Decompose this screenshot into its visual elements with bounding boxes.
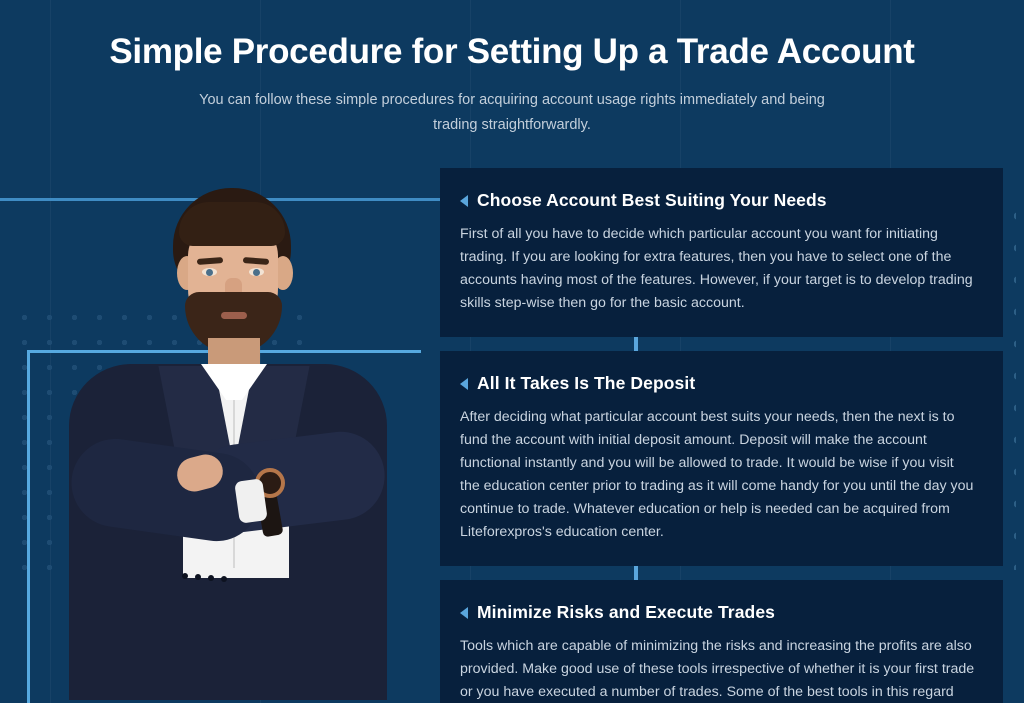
steps-list: Choose Account Best Suiting Your Needs F…	[440, 168, 1003, 703]
step-card-3[interactable]: Minimize Risks and Execute Trades Tools …	[440, 580, 1003, 703]
portrait-visual-block	[0, 150, 440, 703]
portrait-sleeve-button	[195, 574, 201, 580]
vertical-connector-icon	[634, 566, 638, 580]
step-card-3-body: Tools which are capable of minimizing th…	[460, 635, 977, 703]
step-card-2-title: All It Takes Is The Deposit	[477, 373, 695, 394]
chevron-left-icon	[460, 195, 468, 207]
step-card-1[interactable]: Choose Account Best Suiting Your Needs F…	[440, 168, 1003, 337]
step-card-3-header: Minimize Risks and Execute Trades	[460, 602, 977, 623]
step-card-2[interactable]: All It Takes Is The Deposit After decidi…	[440, 351, 1003, 566]
step-card-2-header: All It Takes Is The Deposit	[460, 373, 977, 394]
right-dot-column-icon	[1004, 200, 1016, 570]
step-connector-1	[440, 337, 1003, 351]
portrait-sleeve-button	[182, 573, 188, 579]
step-card-1-body: First of all you have to decide which pa…	[460, 223, 977, 315]
step-card-2-body: After deciding what particular account b…	[460, 406, 977, 544]
chevron-left-icon	[460, 378, 468, 390]
portrait-pupil-left	[206, 269, 213, 276]
portrait-sleeve-button	[221, 576, 227, 582]
vertical-connector-icon	[634, 337, 638, 351]
step-connector-2	[440, 566, 1003, 580]
page-subtitle: You can follow these simple procedures f…	[192, 88, 832, 139]
portrait-sleeve-button	[208, 575, 214, 581]
portrait-pupil-right	[253, 269, 260, 276]
step-card-3-title: Minimize Risks and Execute Trades	[477, 602, 775, 623]
portrait-lips	[221, 312, 247, 319]
page-header: Simple Procedure for Setting Up a Trade …	[0, 0, 1024, 139]
portrait-fringe	[179, 202, 285, 246]
portrait-cuff	[234, 478, 268, 523]
step-card-1-header: Choose Account Best Suiting Your Needs	[460, 190, 977, 211]
step-card-1-title: Choose Account Best Suiting Your Needs	[477, 190, 827, 211]
page-title: Simple Procedure for Setting Up a Trade …	[0, 30, 1024, 74]
chevron-left-icon	[460, 607, 468, 619]
portrait-image	[55, 188, 400, 700]
